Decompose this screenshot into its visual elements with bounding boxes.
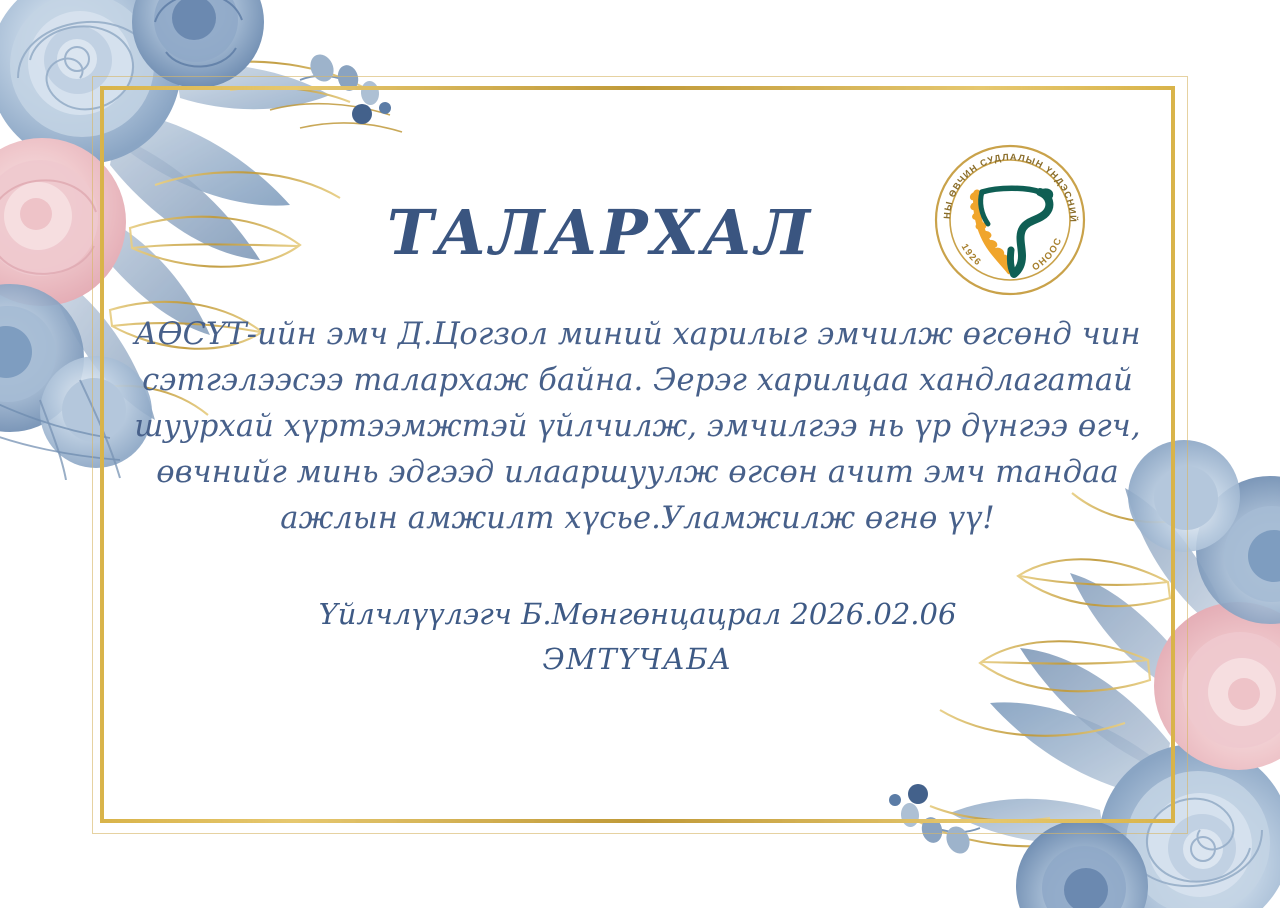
gratitude-certificate: АРЬСНЫ ӨВЧИН СУДЛАЛЫН ҮНДЭСНИЙ ТӨВ 1926 … xyxy=(0,0,1280,908)
body-line: сэтгэлээсээ талархаж байна. Эерэг харилц… xyxy=(130,358,1145,404)
page-title: ТАЛАРХАЛ xyxy=(110,196,1090,269)
body-line: шуурхай хүртээмжтэй үйлчилж, эмчилгээ нь… xyxy=(130,404,1145,450)
signature-client-line: Үйлчлүүлэгч Б.Мөнгөнцацрал 2026.02.06 xyxy=(130,592,1145,637)
gratitude-body-text: АӨСҮТ-ийн эмч Д.Цогзол миний харилыг эмч… xyxy=(130,312,1145,542)
body-line: ажлын амжилт хүсье.Уламжилж өгнө үү! xyxy=(130,496,1145,542)
body-line: өвчнийг минь эдгээд илааршуулж өгсөн ачи… xyxy=(130,450,1145,496)
certificate-content: ТАЛАРХАЛ АӨСҮТ-ийн эмч Д.Цогзол миний ха… xyxy=(110,100,1165,810)
signature-block: Үйлчлүүлэгч Б.Мөнгөнцацрал 2026.02.06 ЭМ… xyxy=(130,592,1145,682)
signature-organization: ЭМТҮЧАБА xyxy=(130,637,1145,682)
body-line: АӨСҮТ-ийн эмч Д.Цогзол миний харилыг эмч… xyxy=(130,312,1145,358)
